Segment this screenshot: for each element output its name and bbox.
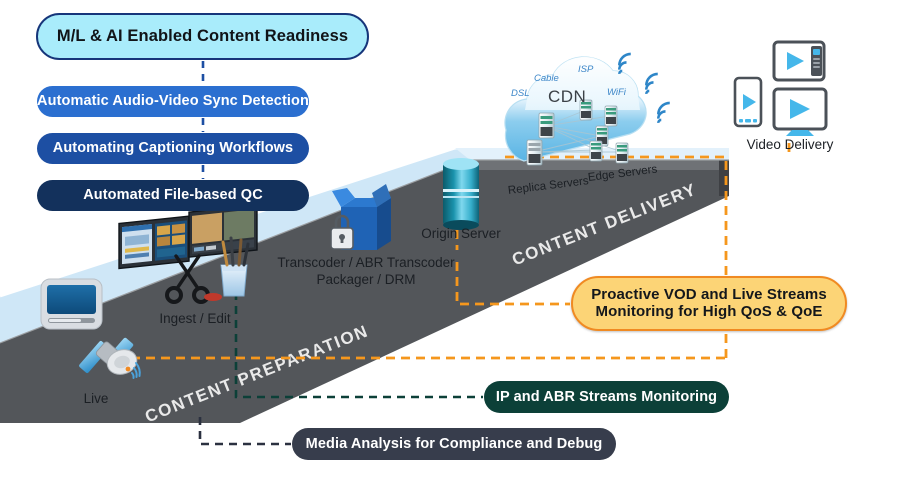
label-cable: Cable — [534, 73, 559, 84]
label-live: Live — [84, 391, 109, 406]
pill-label: IP and ABR Streams Monitoring — [496, 389, 717, 405]
pill-label: Automated File-based QC — [83, 187, 263, 203]
pill-ml-ai-readiness[interactable]: M/L & AI Enabled Content Readiness — [36, 13, 369, 60]
pill-label-line1: Proactive VOD and Live Streams — [591, 287, 827, 304]
pill-captioning-workflows[interactable]: Automating Captioning Workflows — [37, 133, 309, 164]
monitor-icon — [774, 89, 826, 136]
origin-server-icon — [443, 158, 479, 230]
connector-media-analysis — [200, 417, 291, 444]
pill-proactive-monitoring[interactable]: Proactive VOD and Live Streams Monitorin… — [571, 276, 847, 331]
pill-label: Automatic Audio-Video Sync Detection — [37, 93, 309, 109]
label-isp: ISP — [578, 64, 593, 75]
pill-label: M/L & AI Enabled Content Readiness — [57, 27, 348, 45]
label-wifi: WiFi — [607, 87, 626, 98]
smartphone-icon — [735, 78, 761, 126]
pill-media-analysis[interactable]: Media Analysis for Compliance and Debug — [292, 428, 616, 460]
pill-ip-abr-monitoring[interactable]: IP and ABR Streams Monitoring — [484, 381, 729, 413]
label-cdn: CDN — [548, 87, 586, 107]
label-transcoder-line2: Packager / DRM — [316, 272, 415, 287]
label-dsl: DSL — [511, 88, 529, 99]
pill-label: Automating Captioning Workflows — [53, 140, 293, 156]
label-ingest-edit: Ingest / Edit — [159, 311, 230, 326]
cdn-cloud-icon — [505, 57, 646, 165]
pill-file-based-qc[interactable]: Automated File-based QC — [37, 180, 309, 211]
tv-icon — [774, 42, 824, 80]
diagram-canvas: CONTENT PREPARATION CONTENT DELIVERY — [0, 0, 900, 493]
vod-icon — [41, 279, 102, 329]
label-video-delivery: Video Delivery — [747, 137, 834, 152]
label-transcoder-line1: Transcoder / ABR Transcoder — [277, 255, 454, 270]
satellite-icon — [78, 337, 140, 378]
label-origin-server: Origin Server — [421, 226, 501, 241]
connector-ip-abr — [236, 292, 483, 397]
diagram-icons — [0, 0, 900, 493]
pill-label: Media Analysis for Compliance and Debug — [306, 436, 603, 452]
pill-audio-video-sync[interactable]: Automatic Audio-Video Sync Detection — [37, 86, 309, 117]
ingest-edit-icon — [119, 205, 257, 269]
pill-label-line2: Monitoring for High QoS & QoE — [595, 304, 822, 321]
